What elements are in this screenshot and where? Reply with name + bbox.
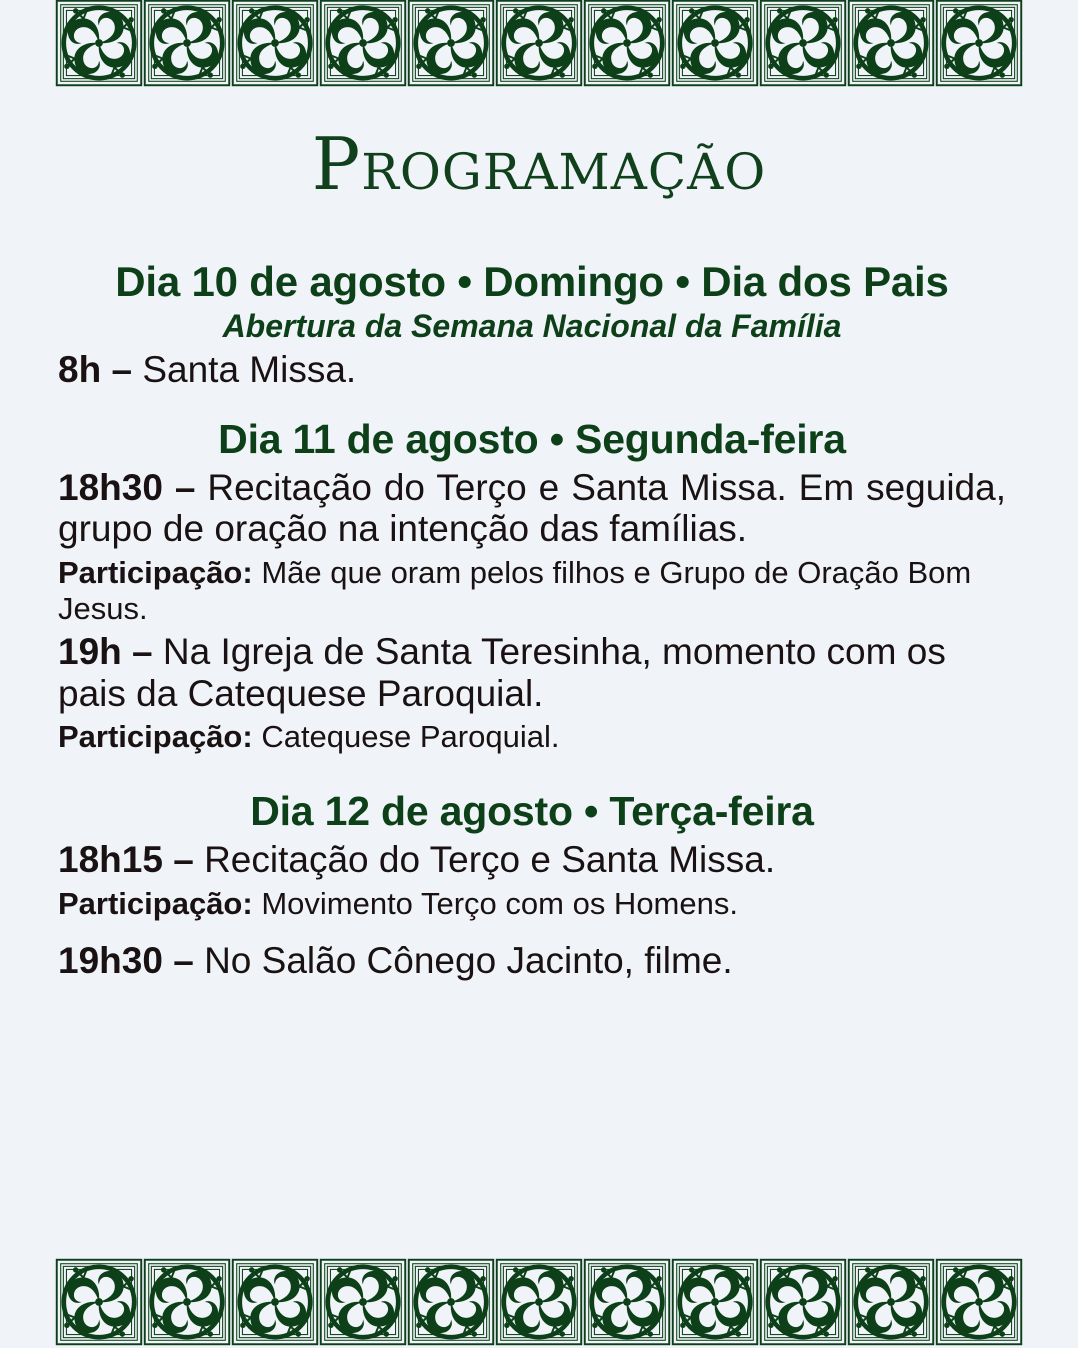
- entry-time: 19h –: [58, 631, 163, 672]
- participation-line: Participação: Catequese Paroquial.: [58, 719, 1006, 755]
- participation-text: Catequese Paroquial.: [253, 719, 560, 754]
- schedule-entry: 18h30 – Recitação do Terço e Santa Missa…: [58, 467, 1006, 550]
- rosette-tile-icon: [407, 1258, 495, 1346]
- entry-time: 19h30 –: [58, 940, 204, 981]
- schedule-entry: 19h – Na Igreja de Santa Teresinha, mome…: [58, 631, 1006, 714]
- page-title: Programação: [0, 128, 1078, 200]
- rosette-tile-icon: [583, 0, 671, 87]
- rosette-tile-icon: [231, 0, 319, 87]
- rosette-tile-icon: [407, 0, 495, 87]
- participation-label: Participação:: [58, 719, 253, 754]
- participation-text: Movimento Terço com os Homens.: [253, 886, 738, 921]
- rosette-tile-icon: [319, 0, 407, 87]
- rosette-tile-icon: [847, 1258, 935, 1346]
- section-heading: Dia 12 de agosto • Terça-feira: [58, 789, 1006, 835]
- entry-text: No Salão Cônego Jacinto, filme.: [204, 940, 733, 981]
- bottom-ornament-border: [55, 1258, 1023, 1348]
- schedule-entry: 8h – Santa Missa.: [58, 349, 1006, 390]
- rosette-tile-icon: [671, 1258, 759, 1346]
- rosette-tile-icon: [583, 1258, 671, 1346]
- section-heading: Dia 10 de agosto • Domingo • Dia dos Pai…: [58, 258, 1006, 305]
- section-dia-12: Dia 12 de agosto • Terça-feira 18h15 – R…: [58, 789, 1006, 981]
- top-ornament-border: [55, 0, 1023, 87]
- rosette-tile-icon: [759, 1258, 847, 1346]
- entry-text: Recitação do Terço e Santa Missa.: [204, 839, 775, 880]
- participation-line: Participação: Mãe que oram pelos filhos …: [58, 555, 1006, 628]
- rosette-tile-icon: [847, 0, 935, 87]
- entry-time: 18h15 –: [58, 839, 204, 880]
- rosette-tile-icon: [319, 1258, 407, 1346]
- rosette-tile-icon: [759, 0, 847, 87]
- rosette-tile-icon: [143, 1258, 231, 1346]
- rosette-tile-icon: [55, 1258, 143, 1346]
- participation-label: Participação:: [58, 886, 253, 921]
- section-heading: Dia 11 de agosto • Segunda-feira: [58, 417, 1006, 463]
- rosette-tile-icon: [143, 0, 231, 87]
- rosette-tile-icon: [495, 1258, 583, 1346]
- entry-time: 18h30 –: [58, 467, 207, 508]
- rosette-tile-icon: [671, 0, 759, 87]
- rosette-tile-icon: [495, 0, 583, 87]
- rosette-tile-icon: [231, 1258, 319, 1346]
- schedule-entry: 18h15 – Recitação do Terço e Santa Missa…: [58, 839, 1006, 880]
- rosette-tile-icon: [55, 0, 143, 87]
- participation-line: Participação: Movimento Terço com os Hom…: [58, 886, 1006, 922]
- participation-label: Participação:: [58, 555, 253, 590]
- section-dia-10: Dia 10 de agosto • Domingo • Dia dos Pai…: [58, 258, 1006, 391]
- entry-time: 8h –: [58, 349, 142, 390]
- entry-text: Na Igreja de Santa Teresinha, momento co…: [58, 631, 946, 713]
- rosette-tile-icon: [935, 0, 1023, 87]
- rosette-tile-icon: [935, 1258, 1023, 1346]
- section-dia-11: Dia 11 de agosto • Segunda-feira 18h30 –…: [58, 417, 1006, 755]
- programacao-content: Dia 10 de agosto • Domingo • Dia dos Pai…: [58, 258, 1006, 981]
- entry-text: Santa Missa.: [142, 349, 356, 390]
- section-subheading: Abertura da Semana Nacional da Família: [58, 307, 1006, 345]
- schedule-entry: 19h30 – No Salão Cônego Jacinto, filme.: [58, 940, 1006, 981]
